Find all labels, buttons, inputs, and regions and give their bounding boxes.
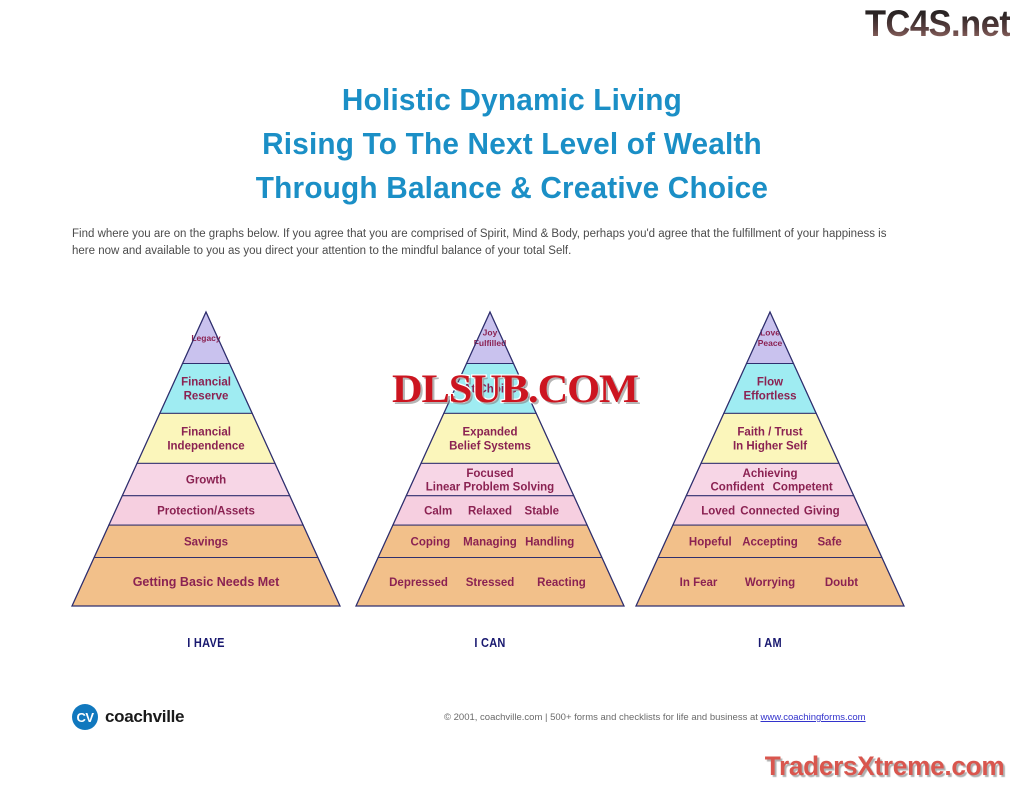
tradersxtreme-brand-logo: TradersXtreme.com: [765, 749, 1005, 783]
intro-paragraph: Find where you are on the graphs below. …: [72, 226, 896, 260]
pyramid-i-am: LovePeaceFlowEffortlessFaith / TrustIn H…: [632, 310, 908, 650]
band-label: Linear Problem Solving: [426, 482, 554, 494]
band-label: Loved: [701, 506, 735, 518]
pyramid-graphic: LovePeaceFlowEffortlessFaith / TrustIn H…: [632, 310, 908, 608]
page-title: Holistic Dynamic Living Rising To The Ne…: [0, 78, 1024, 210]
coachingforms-link[interactable]: www.coachingforms.com: [761, 712, 866, 723]
band-label: Doubt: [825, 577, 858, 589]
band-label: Giving: [804, 506, 840, 518]
band-label: Relaxed: [468, 506, 512, 518]
band-label: Reserve: [184, 390, 229, 402]
band-label: Effortless: [743, 390, 796, 402]
band-label: Love: [760, 328, 780, 338]
band-label: Stressed: [466, 577, 515, 589]
title-line-1: Holistic Dynamic Living: [20, 78, 1003, 122]
tc4s-brand-logo: TC4S.net: [865, 2, 1010, 46]
band-label: Confident: [711, 482, 765, 494]
band-label: Joy: [483, 328, 498, 338]
band-label: Calm: [424, 506, 452, 518]
pyramid-graphic: LegacyFinancialReserveFinancialIndepende…: [68, 310, 344, 608]
band-label: Coping: [411, 536, 451, 548]
band-label: Faith / Trust: [737, 427, 802, 439]
band-label: Expanded: [463, 427, 518, 439]
band-label: Independence: [167, 440, 244, 452]
band-label: Managing: [463, 536, 517, 548]
band-label: Fulfilled: [474, 338, 507, 348]
title-line-2: Rising To The Next Level of Wealth: [20, 122, 1003, 166]
copyright-text: © 2001, coachville.com | 500+ forms and …: [444, 712, 761, 723]
band-label: At Choice: [463, 384, 517, 396]
band-label: Handling: [525, 536, 574, 548]
band-label: Peace: [758, 338, 783, 348]
band-label: Flow: [757, 377, 783, 389]
band-label: Achieving: [743, 468, 798, 480]
pyramid-caption: I CAN: [369, 636, 612, 650]
band-label: Competent: [773, 482, 833, 494]
pyramid-graphic: JoyFulfilledAt ChoiceExpandedBelief Syst…: [352, 310, 628, 608]
band-label: Protection/Assets: [157, 506, 255, 518]
band-label: Savings: [184, 536, 228, 548]
band-label: Safe: [818, 536, 842, 548]
band-label: Financial: [181, 427, 231, 439]
pyramid-i-can: JoyFulfilledAt ChoiceExpandedBelief Syst…: [352, 310, 628, 650]
band-label: Worrying: [745, 577, 795, 589]
copyright-line: © 2001, coachville.com | 500+ forms and …: [444, 712, 866, 723]
band-label: Getting Basic Needs Met: [133, 575, 280, 589]
coachville-badge-icon: CV: [72, 704, 98, 730]
band-label: Reacting: [537, 577, 586, 589]
band-label: Financial: [181, 377, 231, 389]
band-label: In Fear: [680, 577, 718, 589]
band-label: Depressed: [389, 577, 448, 589]
band-label: Stable: [525, 506, 560, 518]
coachville-wordmark: coachville: [105, 707, 184, 727]
pyramid-caption: I AM: [649, 636, 892, 650]
band-label: Hopeful: [689, 536, 732, 548]
band-label: Focused: [466, 468, 513, 480]
coachville-logo: CV coachville: [72, 704, 184, 730]
pyramid-caption: I HAVE: [85, 636, 328, 650]
title-line-3: Through Balance & Creative Choice: [20, 166, 1003, 210]
pyramid-i-have: LegacyFinancialReserveFinancialIndepende…: [68, 310, 344, 650]
band-label: Growth: [186, 475, 226, 487]
band-label: Belief Systems: [449, 440, 531, 452]
band-label: Accepting: [742, 536, 798, 548]
band-label: In Higher Self: [733, 440, 807, 452]
band-label: Connected: [740, 506, 799, 518]
